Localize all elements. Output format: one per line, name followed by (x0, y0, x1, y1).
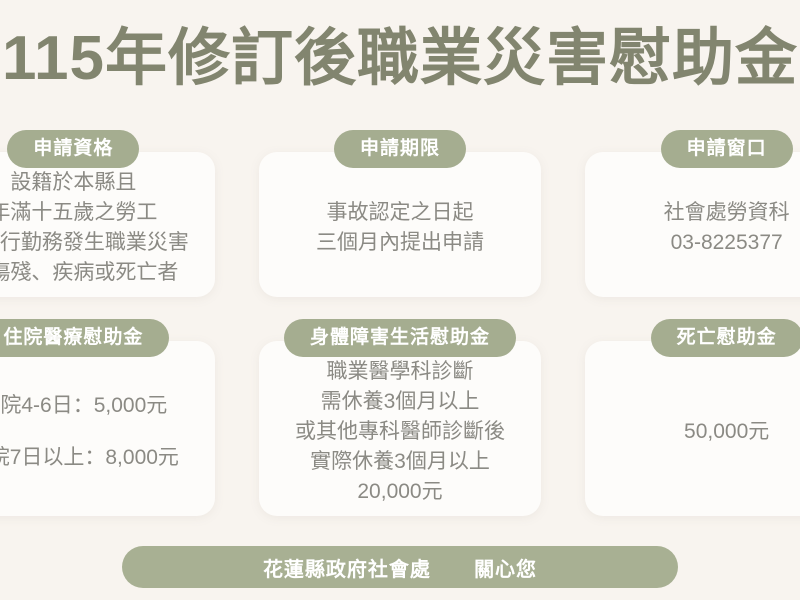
card-hospitalization-subsidy: 住院醫療慰助金 住院4-6日：5,000元 住院7日以上：8,000元 (0, 319, 215, 516)
card-line: 或其他專科醫師診斷後 (295, 417, 505, 447)
card-body-contact: 社會處勞資科 03-8225377 (585, 152, 800, 297)
card-line: 社會處勞資科 (664, 198, 790, 228)
card-eligibility: 申請資格 設籍於本縣且 年滿十五歲之勞工 因執行勤務發生職業災害 致傷殘、疾病或… (0, 130, 215, 297)
card-body-eligibility: 設籍於本縣且 年滿十五歲之勞工 因執行勤務發生職業災害 致傷殘、疾病或死亡者 (0, 152, 215, 297)
card-deadline: 申請期限 事故認定之日起 三個月內提出申請 (259, 130, 542, 297)
card-line: 住院7日以上：8,000元 (0, 432, 179, 484)
card-body-death: 50,000元 (585, 341, 800, 516)
card-line: 需休養3個月以上 (321, 387, 480, 417)
card-body-deadline: 事故認定之日起 三個月內提出申請 (259, 152, 542, 297)
footer-text: 花蓮縣政府社會處 關心您 (263, 553, 537, 582)
death-amount: 50,000元 (684, 417, 769, 447)
card-line: 設籍於本縣且 (10, 168, 136, 198)
card-death-subsidy: 死亡慰助金 50,000元 (585, 319, 800, 516)
card-body-hospitalization: 住院4-6日：5,000元 住院7日以上：8,000元 (0, 341, 215, 516)
card-header-disability: 身體障害生活慰助金 (284, 319, 516, 357)
card-header-eligibility: 申請資格 (7, 130, 139, 168)
card-contact: 申請窗口 社會處勞資科 03-8225377 (585, 130, 800, 297)
card-header-deadline: 申請期限 (334, 130, 466, 168)
card-line: 事故認定之日起 (326, 198, 473, 228)
card-line: 實際休養3個月以上 (310, 447, 490, 477)
card-line: 年滿十五歲之勞工 (0, 198, 157, 228)
footer-org: 花蓮縣政府社會處 (263, 559, 431, 581)
page-title: 115年修訂後職業災害慰助金 (2, 24, 798, 94)
card-header-contact: 申請窗口 (661, 130, 793, 168)
footer-slogan: 關心您 (474, 559, 537, 581)
footer-banner: 花蓮縣政府社會處 關心您 (122, 546, 678, 588)
card-line: 因執行勤務發生職業災害 (0, 228, 189, 258)
card-body-disability: 職業醫學科診斷 需休養3個月以上 或其他專科醫師診斷後 實際休養3個月以上 20… (259, 341, 542, 516)
card-disability-subsidy: 身體障害生活慰助金 職業醫學科診斷 需休養3個月以上 或其他專科醫師診斷後 實際… (259, 319, 542, 516)
title-banner: 115年修訂後職業災害慰助金 (0, 0, 800, 112)
card-header-death: 死亡慰助金 (651, 319, 800, 357)
benefit-card-grid: 申請資格 設籍於本縣且 年滿十五歲之勞工 因執行勤務發生職業災害 致傷殘、疾病或… (0, 130, 800, 516)
card-line: 住院4-6日：5,000元 (0, 380, 167, 432)
card-line: 致傷殘、疾病或死亡者 (0, 258, 178, 288)
card-line: 三個月內提出申請 (316, 228, 484, 258)
card-line: 職業醫學科診斷 (326, 357, 473, 387)
contact-phone-number: 03-8225377 (671, 228, 783, 258)
disability-amount: 20,000元 (357, 477, 442, 507)
card-header-hospitalization: 住院醫療慰助金 (0, 319, 169, 357)
